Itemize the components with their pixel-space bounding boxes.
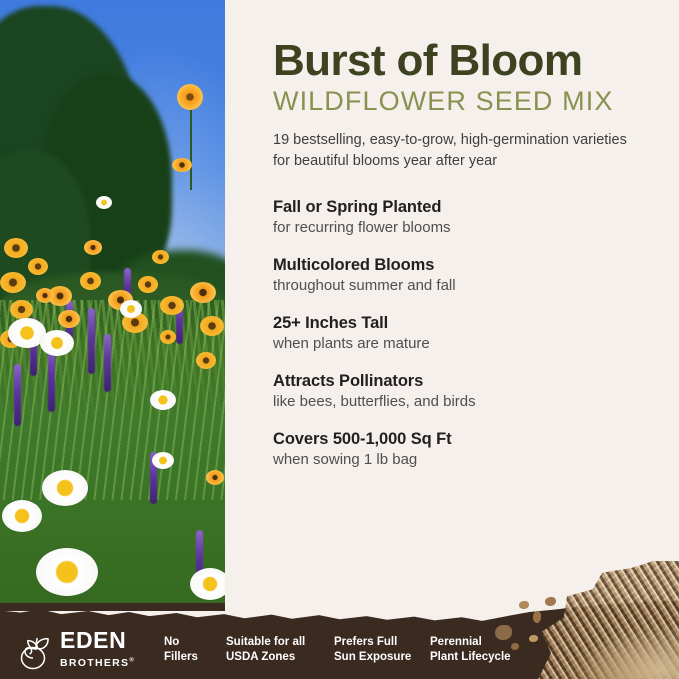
seed-speck — [495, 625, 512, 640]
list-item: Covers 500-1,000 Sq Ft when sowing 1 lb … — [273, 430, 649, 468]
badge-line-1: Perennial — [430, 636, 482, 648]
flower-blossom — [206, 470, 224, 485]
flower-blossom — [160, 330, 176, 344]
list-item: Multicolored Blooms throughout summer an… — [273, 256, 649, 294]
list-item: Fall or Spring Planted for recurring flo… — [273, 198, 649, 236]
product-description: 19 bestselling, easy-to-grow, high-germi… — [273, 130, 633, 172]
white-daisy — [96, 196, 112, 209]
page-title: Burst of Bloom — [273, 38, 649, 84]
seed-speck — [529, 635, 538, 642]
white-daisy — [152, 452, 174, 469]
product-subtitle: WILDFLOWER SEED MIX — [273, 86, 649, 117]
white-daisy — [36, 548, 98, 596]
scattered-seeds — [489, 595, 559, 651]
brand-sub-text: BROTHERS — [60, 657, 129, 669]
white-daisy — [120, 300, 142, 318]
purple-salvia-spike — [14, 364, 21, 426]
feature-subtext: like bees, butterflies, and birds — [273, 393, 649, 410]
brand-name: EDEN — [60, 627, 126, 653]
flower-blossom — [84, 240, 102, 255]
feature-heading: 25+ Inches Tall — [273, 314, 649, 333]
feature-subtext: throughout summer and fall — [273, 277, 649, 294]
list-item: Attracts Pollinators like bees, butterfl… — [273, 372, 649, 410]
wildflower-meadow-photo — [0, 0, 225, 611]
white-daisy — [190, 568, 225, 600]
trademark-symbol: ® — [129, 657, 135, 663]
badge-line-1: Prefers Full — [334, 636, 397, 648]
flower-blossom — [4, 238, 28, 258]
feature-list: Fall or Spring Planted for recurring flo… — [273, 198, 649, 468]
white-daisy — [2, 500, 42, 532]
badge-no-fillers: No Fillers — [164, 635, 226, 665]
seed-speck — [519, 601, 529, 609]
purple-salvia-spike — [88, 308, 95, 374]
feature-heading: Covers 500-1,000 Sq Ft — [273, 430, 649, 449]
feature-heading: Multicolored Blooms — [273, 256, 649, 275]
flower-stem — [190, 100, 192, 190]
badge-line-1: No — [164, 636, 179, 648]
seed-sprout-icon — [18, 630, 54, 670]
white-daisy — [40, 330, 74, 356]
flower-blossom — [152, 250, 169, 264]
badge-line-2: Fillers — [164, 650, 226, 665]
flower-blossom — [200, 316, 224, 336]
feature-subtext: when plants are mature — [273, 335, 649, 352]
flower-blossom — [196, 352, 216, 369]
feature-heading: Fall or Spring Planted — [273, 198, 649, 217]
eden-brothers-logo: EDEN BROTHERS® — [18, 630, 144, 671]
badge-line-2: Sun Exposure — [334, 650, 430, 665]
seed-speck — [511, 643, 519, 650]
product-infographic: Burst of Bloom WILDFLOWER SEED MIX 19 be… — [0, 0, 679, 679]
flower-blossom — [138, 276, 158, 293]
feature-subtext: for recurring flower blooms — [273, 219, 649, 236]
flower-blossom — [28, 258, 48, 275]
brand-sub: BROTHERS® — [60, 657, 135, 669]
white-daisy — [42, 470, 88, 506]
feature-heading: Attracts Pollinators — [273, 372, 649, 391]
seed-speck — [533, 611, 541, 623]
flower-blossom — [0, 272, 26, 293]
list-item: 25+ Inches Tall when plants are mature — [273, 314, 649, 352]
brand-footer: EDEN BROTHERS® No Fillers Suitable for a… — [0, 599, 679, 679]
flower-blossom — [58, 310, 80, 328]
feature-subtext: when sowing 1 lb bag — [273, 451, 649, 468]
flower-blossom — [172, 158, 192, 172]
purple-salvia-spike — [104, 334, 111, 392]
seed-speck — [545, 597, 556, 606]
flower-blossom — [80, 272, 101, 290]
flower-blossom — [10, 300, 33, 319]
flower-blossom — [160, 296, 184, 315]
product-details-panel: Burst of Bloom WILDFLOWER SEED MIX 19 be… — [225, 0, 679, 611]
badge-sun-exposure: Prefers Full Sun Exposure — [334, 635, 430, 665]
badge-line-2: Plant Lifecycle — [430, 650, 540, 665]
badge-line-1: Suitable for all — [226, 636, 305, 648]
badge-line-2: USDA Zones — [226, 650, 334, 665]
badge-usda-zones: Suitable for all USDA Zones — [226, 635, 334, 665]
white-daisy — [150, 390, 176, 410]
logo-wordmark: EDEN BROTHERS® — [60, 630, 144, 671]
flower-blossom — [190, 282, 216, 303]
flower-blossom — [36, 288, 54, 303]
tall-yellow-flower — [177, 84, 203, 110]
